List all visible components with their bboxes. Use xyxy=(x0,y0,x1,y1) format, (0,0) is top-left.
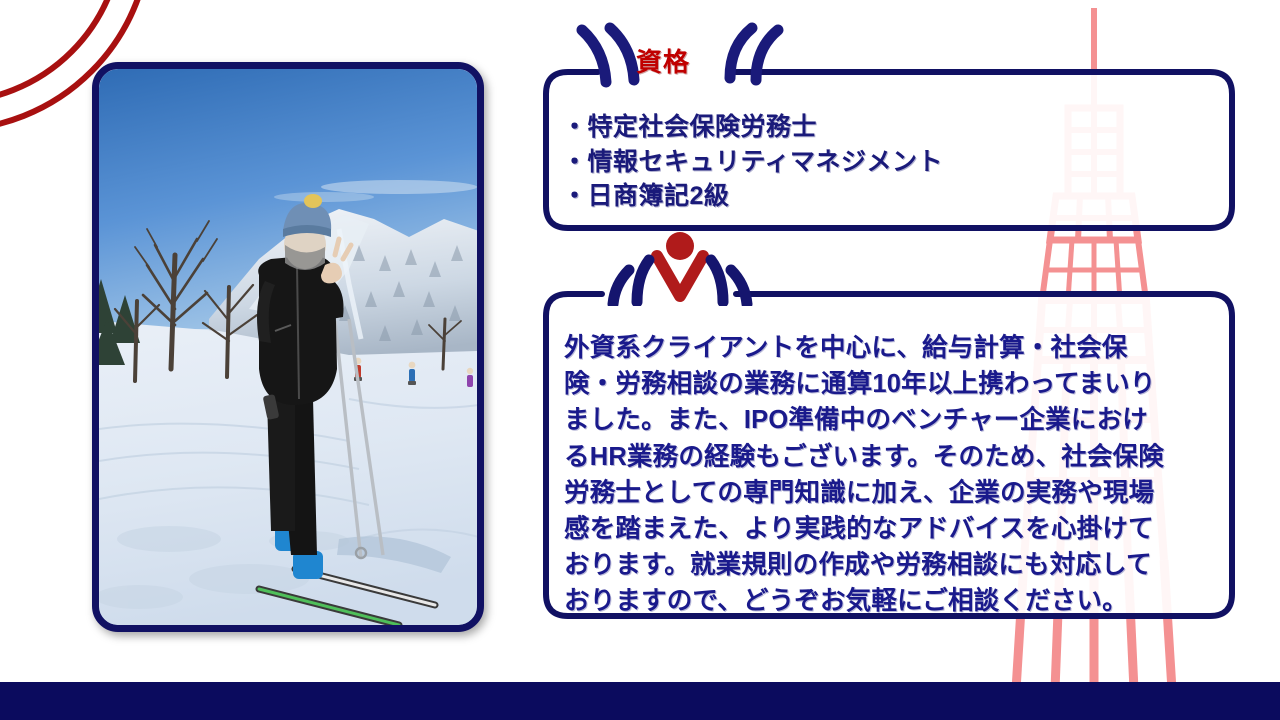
ski-photo-frame xyxy=(92,62,484,632)
slide-canvas: 資格 ・特定社会保険労務士 ・情報セキュリティマネジメント ・日商簿記2級 xyxy=(0,0,1280,720)
ski-photo xyxy=(99,69,477,625)
intro-line: ました。また、IPO準備中のベンチャー企業におけ xyxy=(564,402,1216,438)
list-item: ・特定社会保険労務士 xyxy=(562,110,1224,145)
list-item: ・日商簿記2級 xyxy=(562,179,1224,214)
qualifications-title: 資格 xyxy=(636,42,690,79)
introduction-panel: 外資系クライアントを中心に、給与計算・社会保 険・労務相談の業務に通算10年以上… xyxy=(540,288,1238,624)
list-item: ・情報セキュリティマネジメント xyxy=(562,145,1224,180)
qualifications-list: ・特定社会保険労務士 ・情報セキュリティマネジメント ・日商簿記2級 xyxy=(562,110,1224,214)
introduction-text: 外資系クライアントを中心に、給与計算・社会保 険・労務相談の業務に通算10年以上… xyxy=(564,330,1216,620)
intro-line: るHR業務の経験もございます。そのため、社会保険 xyxy=(564,439,1216,475)
intro-line: 外資系クライアントを中心に、給与計算・社会保 xyxy=(564,330,1216,366)
qualifications-panel: 資格 ・特定社会保険労務士 ・情報セキュリティマネジメント ・日商簿記2級 xyxy=(540,66,1238,236)
intro-line: 感を踏まえた、より実践的なアドバイスを心掛けて xyxy=(564,511,1216,547)
intro-line: 険・労務相談の業務に通算10年以上携わってまいり xyxy=(564,366,1216,402)
bottom-navy-bar xyxy=(0,682,1280,720)
intro-line: 労務士としての専門知識に加え、企業の実務や現場 xyxy=(564,475,1216,511)
intro-line: おります。就業規則の作成や労務相談にも対応して xyxy=(564,547,1216,583)
intro-line: おりますので、どうぞお気軽にご相談ください。 xyxy=(564,583,1216,619)
